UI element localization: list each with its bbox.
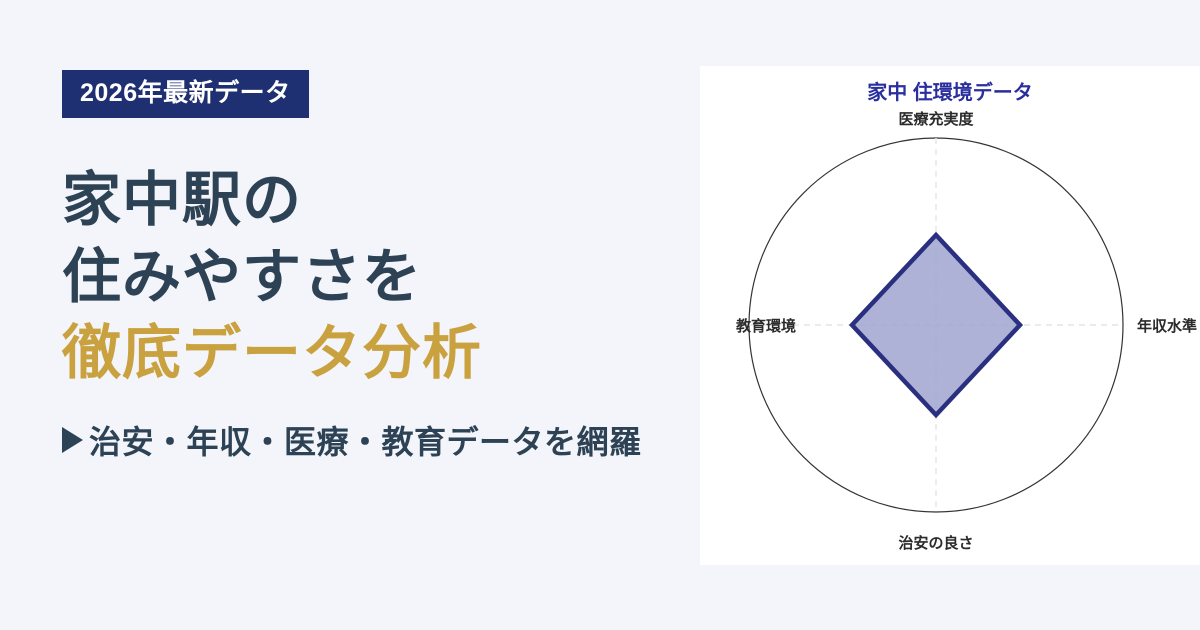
- axis-label-left: 教育環境: [735, 317, 796, 335]
- axis-label-bottom: 治安の良さ: [898, 534, 973, 552]
- hero-section: 2026年最新データ 家中駅の 住みやすさを 徹底データ分析 治安・年収・医療・…: [0, 0, 700, 630]
- radar-chart-svg: 家中 住環境データ 医療充実度 年収水準 治安の良さ 教育環境: [700, 66, 1200, 565]
- headline-line-3-accent: 徹底データ分析: [62, 315, 700, 392]
- radar-chart-panel: 家中 住環境データ 医療充実度 年収水準 治安の良さ 教育環境: [700, 66, 1200, 565]
- triangle-right-icon: [62, 427, 83, 453]
- subtitle: 治安・年収・医療・教育データを網羅: [62, 417, 700, 463]
- subtitle-text: 治安・年収・医療・教育データを網羅: [89, 417, 642, 463]
- chart-title: 家中 住環境データ: [867, 80, 1033, 104]
- status-badge: 2026年最新データ: [62, 70, 309, 118]
- headline-line-2: 住みやすさを: [62, 239, 700, 316]
- radar-series-polygon: [852, 235, 1020, 415]
- axis-label-right: 年収水準: [1137, 317, 1197, 335]
- headline-line-1: 家中駅の: [62, 162, 700, 239]
- axis-label-top: 医療充実度: [898, 110, 974, 128]
- page-title: 家中駅の 住みやすさを 徹底データ分析: [62, 162, 700, 392]
